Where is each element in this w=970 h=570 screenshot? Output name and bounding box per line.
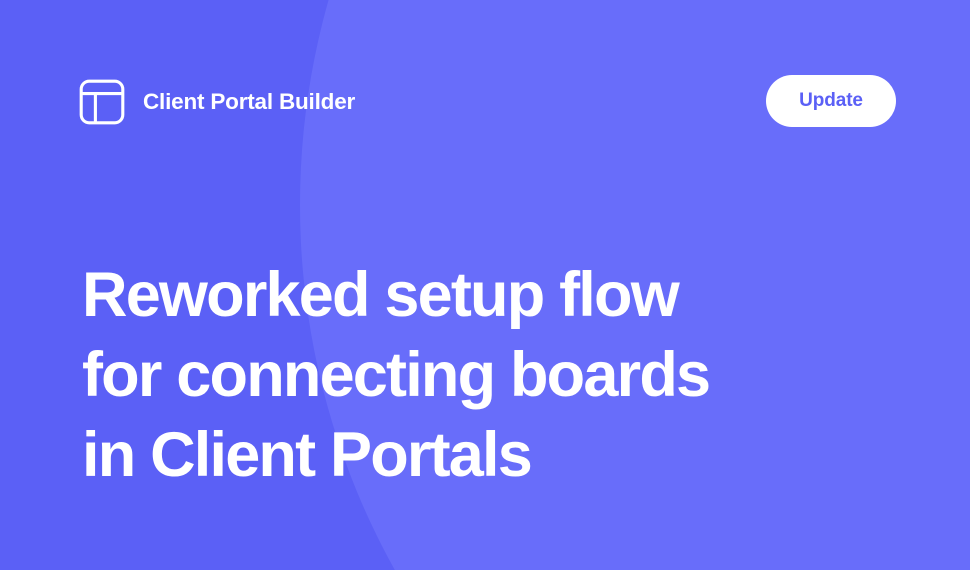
brand-lockup: Client Portal Builder (79, 79, 355, 125)
brand-name: Client Portal Builder (143, 91, 355, 114)
headline: Reworked setup flow for connecting board… (82, 255, 912, 495)
banner-header: Client Portal Builder Update (0, 0, 970, 200)
announcement-banner: Client Portal Builder Update Reworked se… (0, 0, 970, 570)
headline-line-3: in Client Portals (82, 415, 912, 495)
headline-line-2: for connecting boards (82, 335, 912, 415)
headline-line-1: Reworked setup flow (82, 255, 912, 335)
dashboard-layout-icon (79, 79, 125, 125)
update-button[interactable]: Update (766, 75, 896, 127)
